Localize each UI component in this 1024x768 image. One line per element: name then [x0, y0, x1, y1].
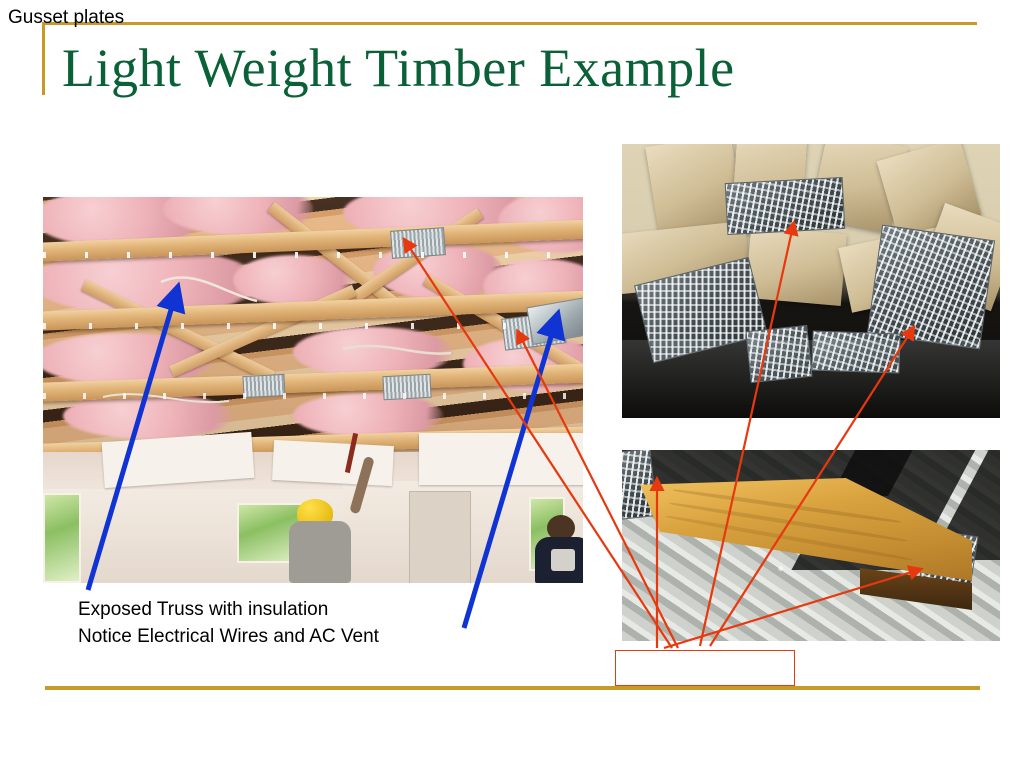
doorway — [409, 491, 471, 583]
gusset-plates-label-box — [615, 650, 795, 686]
worker-primary — [289, 521, 351, 583]
nail-row — [43, 393, 583, 399]
window-left — [43, 493, 81, 583]
plate-reflection — [622, 340, 1000, 418]
gusset-plate — [867, 225, 995, 350]
footer-rule — [45, 686, 980, 690]
title-left-rule — [42, 22, 45, 95]
nail-row — [43, 323, 583, 329]
slide-canvas: Light Weight Timber Example — [0, 0, 1024, 768]
image-truss-interior — [43, 197, 583, 583]
image-truss-chord — [622, 450, 1000, 641]
nail-row — [43, 252, 583, 258]
title-top-rule — [42, 22, 977, 25]
torn-drywall — [419, 433, 583, 485]
worker-secondary-emblem — [551, 549, 575, 571]
image-gusset-plates-pile — [622, 144, 1000, 418]
torn-drywall — [272, 440, 394, 486]
wood-block — [745, 226, 847, 306]
electrical-wires — [43, 197, 583, 467]
caption-truss: Exposed Truss with insulation Notice Ele… — [78, 596, 379, 650]
gusset-plates-label: Gusset plates — [8, 6, 124, 30]
page-title: Light Weight Timber Example — [62, 37, 735, 99]
gusset-plate — [725, 177, 846, 235]
